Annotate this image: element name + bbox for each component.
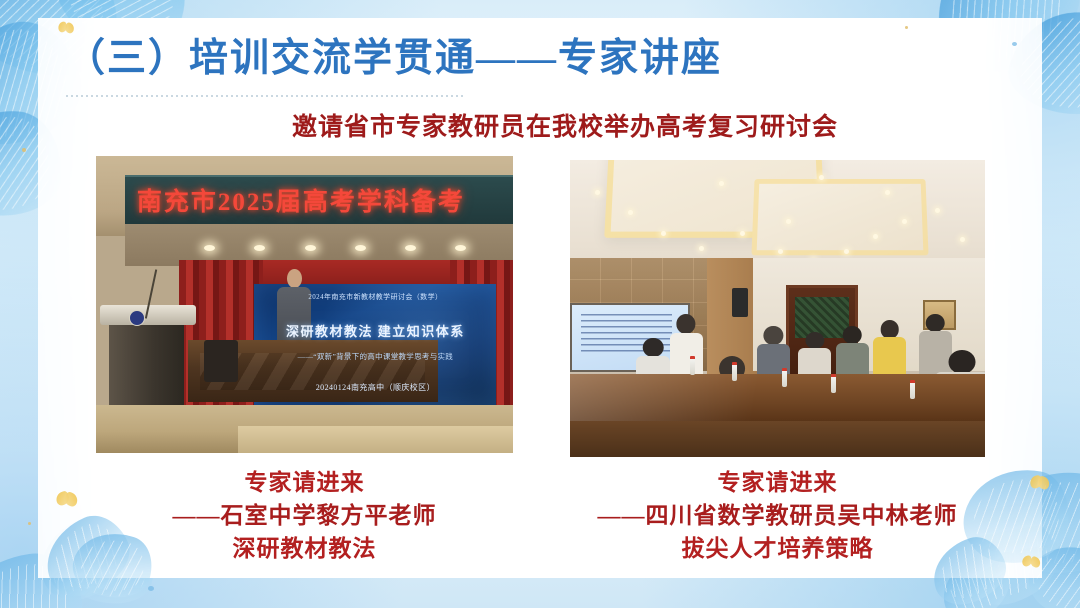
led-banner: 南充市2025届高考学科备考	[125, 175, 513, 227]
gold-speck-a	[22, 148, 26, 152]
attendee-head	[764, 326, 783, 345]
slide-root: （三）培训交流学贯通——专家讲座 邀请省市专家教研员在我校举办高考复习研讨会 南…	[0, 0, 1080, 608]
gold-speck-b	[28, 522, 31, 525]
caption-left-line2: ——石室中学黎方平老师	[96, 499, 513, 532]
caption-right: 专家请进来 ——四川省数学教研员吴中林老师 拔尖人才培养策略	[570, 466, 985, 565]
ceiling-downlight	[778, 249, 783, 254]
screen-line-title: 深研教材教法 建立知识体系	[286, 321, 465, 340]
water-bottle	[831, 374, 836, 393]
attendee-head	[677, 314, 696, 334]
presenter-head	[287, 269, 302, 288]
ceiling-light	[305, 245, 316, 251]
attendee-head	[926, 314, 945, 332]
screen-line-footer: 20240124南充高中（顺庆校区）	[316, 382, 435, 393]
caption-right-line3: 拔尖人才培养策略	[570, 532, 985, 565]
attendee-head	[880, 320, 899, 338]
wall-speaker	[732, 288, 749, 318]
ceiling-downlight	[819, 175, 824, 180]
caption-right-line2: ——四川省数学教研员吴中林老师	[570, 499, 985, 532]
title-underline-rule	[66, 95, 464, 97]
blue-speck-b	[1012, 42, 1017, 46]
led-banner-text: 南充市2025届高考学科备考	[137, 182, 465, 218]
attendee-head	[843, 326, 862, 344]
caption-left-line1: 专家请进来	[96, 466, 513, 499]
ceiling-coffer-right	[751, 179, 928, 255]
water-bottle	[782, 368, 787, 387]
attendee-presenter	[670, 314, 703, 379]
caption-right-line1: 专家请进来	[570, 466, 985, 499]
stage-chair	[204, 340, 237, 382]
caption-left: 专家请进来 ——石室中学黎方平老师 深研教材教法	[96, 466, 513, 565]
page-title: （三）培训交流学贯通——专家讲座	[66, 36, 722, 82]
ceiling-downlight	[699, 246, 704, 251]
gold-speck-c	[905, 26, 908, 29]
water-bottle	[732, 362, 737, 381]
photo-auditorium: 南充市2025届高考学科备考 2024年南充市新教材教学研讨会（数学） 深研教材…	[96, 156, 513, 453]
caption-left-line3: 深研教材教法	[96, 532, 513, 565]
conference-table	[570, 374, 985, 427]
attendee-head	[643, 338, 664, 357]
stage-step	[238, 426, 513, 453]
ceiling-downlight	[844, 249, 849, 254]
water-bottle	[910, 380, 915, 399]
ceiling-downlight	[595, 190, 600, 195]
attendee-head	[805, 332, 824, 349]
auditorium-scene: 南充市2025届高考学科备考 2024年南充市新教材教学研讨会（数学） 深研教材…	[96, 156, 513, 453]
water-bottle	[690, 356, 695, 375]
ceiling-light	[455, 245, 466, 251]
screen-line-subtitle: ——“双新”背景下的高中课堂教学思考与实践	[298, 351, 453, 362]
ceiling-light	[355, 245, 366, 251]
page-subtitle: 邀请省市专家教研员在我校举办高考复习研讨会	[292, 112, 838, 144]
attendee-body	[670, 333, 703, 380]
photo-conference-room	[570, 160, 985, 457]
conference-floor	[570, 421, 985, 457]
attendee-head	[949, 350, 976, 374]
screen-line-header: 2024年南充市新教材教学研讨会（数学）	[308, 292, 442, 302]
ceiling-downlight	[935, 208, 940, 213]
conference-room-scene	[570, 160, 985, 457]
ceiling-light	[405, 245, 416, 251]
blue-speck-a	[148, 586, 154, 591]
